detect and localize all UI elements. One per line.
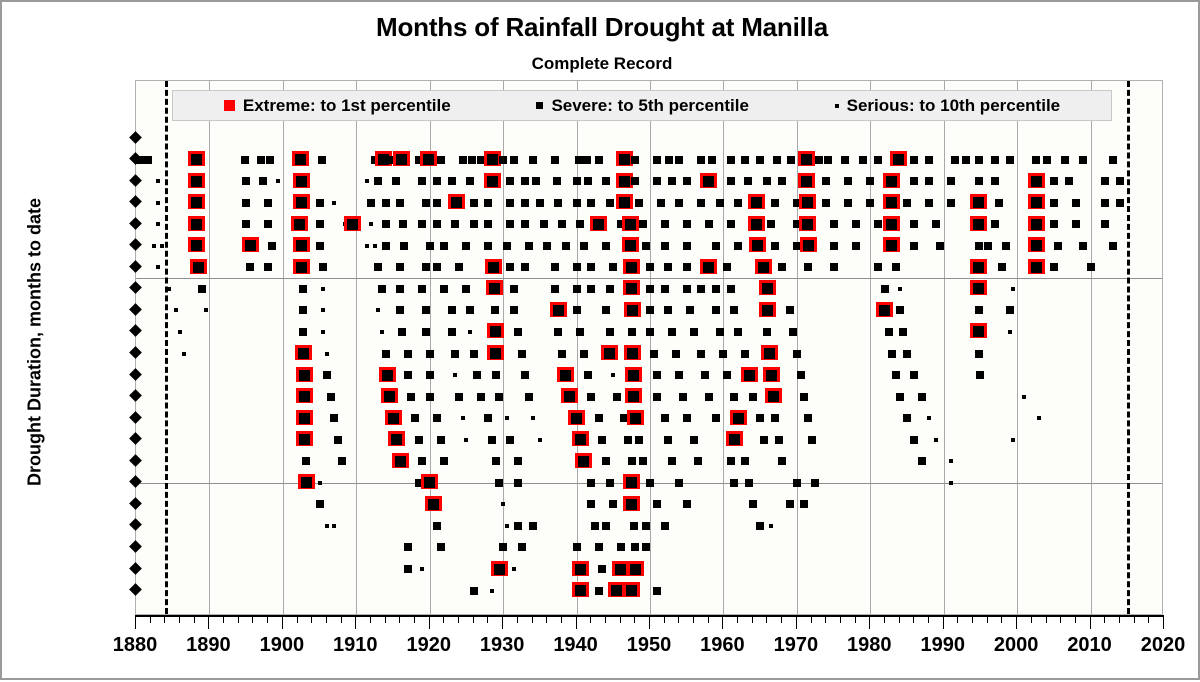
- drought-marker-extreme-core: [803, 240, 814, 251]
- drought-marker-severe: [778, 263, 786, 271]
- x-axis-tick-label: 1890: [186, 634, 231, 657]
- drought-marker-extreme-core: [191, 176, 202, 187]
- drought-marker-severe: [396, 263, 404, 271]
- drought-marker-severe: [554, 199, 562, 207]
- drought-marker-severe: [991, 177, 999, 185]
- drought-marker-severe: [418, 285, 426, 293]
- drought-marker-severe: [683, 242, 691, 250]
- x-axis-minor-tick: [561, 616, 562, 623]
- drought-marker-extreme-core: [490, 326, 501, 337]
- drought-marker-severe: [844, 177, 852, 185]
- drought-marker-severe: [299, 328, 307, 336]
- drought-marker-severe: [617, 543, 625, 551]
- drought-marker-serious: [365, 179, 369, 183]
- drought-marker-serious: [1011, 287, 1015, 291]
- drought-marker-severe: [1032, 156, 1040, 164]
- drought-marker-extreme-core: [424, 477, 435, 488]
- drought-marker-severe: [606, 479, 614, 487]
- drought-marker-severe: [451, 350, 459, 358]
- drought-marker-severe: [646, 285, 654, 293]
- drought-marker-severe: [771, 242, 779, 250]
- drought-marker-severe: [690, 436, 698, 444]
- drought-marker-extreme-core: [615, 564, 626, 575]
- drought-marker-extreme-core: [751, 219, 762, 230]
- drought-marker-severe: [602, 457, 610, 465]
- drought-marker-severe: [583, 156, 591, 164]
- drought-marker-severe: [1101, 177, 1109, 185]
- drought-marker-severe: [316, 242, 324, 250]
- y-axis-tick-marker: [128, 367, 142, 381]
- drought-marker-serious: [332, 524, 336, 528]
- drought-marker-extreme-core: [764, 348, 775, 359]
- drought-marker-extreme-core: [299, 391, 310, 402]
- drought-marker-severe: [874, 156, 882, 164]
- x-axis-minor-tick: [737, 616, 738, 623]
- drought-marker-severe: [661, 285, 669, 293]
- drought-marker-extreme-core: [296, 197, 307, 208]
- drought-marker-severe: [503, 242, 511, 250]
- drought-marker-severe: [514, 479, 522, 487]
- drought-marker-severe: [664, 306, 672, 314]
- drought-marker-extreme-core: [626, 499, 637, 510]
- drought-marker-extreme-core: [762, 283, 773, 294]
- drought-marker-severe: [727, 285, 735, 293]
- drought-marker-severe: [1072, 199, 1080, 207]
- drought-marker-extreme-core: [744, 370, 755, 381]
- drought-marker-severe: [580, 242, 588, 250]
- drought-marker-extreme-core: [575, 434, 586, 445]
- drought-marker-severe: [551, 263, 559, 271]
- drought-marker-severe: [506, 199, 514, 207]
- drought-marker-severe: [418, 457, 426, 465]
- drought-marker-serious: [156, 201, 160, 205]
- drought-marker-severe: [995, 199, 1003, 207]
- drought-marker-severe: [595, 543, 603, 551]
- x-axis-tick-label: 1930: [480, 634, 525, 657]
- drought-marker-severe: [866, 199, 874, 207]
- drought-marker-severe: [415, 436, 423, 444]
- drought-marker-severe: [1061, 156, 1069, 164]
- drought-marker-severe: [822, 177, 830, 185]
- drought-marker-serious: [178, 330, 182, 334]
- drought-marker-severe: [1050, 199, 1058, 207]
- drought-marker-severe: [841, 156, 849, 164]
- drought-marker-extreme-core: [626, 262, 637, 273]
- drought-marker-severe: [918, 457, 926, 465]
- x-axis-minor-tick: [517, 616, 518, 623]
- drought-marker-severe: [705, 393, 713, 401]
- y-axis-tick-marker: [128, 432, 142, 446]
- drought-marker-severe: [712, 306, 720, 314]
- drought-marker-severe: [631, 177, 639, 185]
- y-axis-tick-labels: 1234691218243yr4yr6yr8yr10yr15yr20yr30yr: [2, 2, 124, 682]
- drought-marker-severe: [514, 522, 522, 530]
- x-axis-minor-tick: [164, 616, 165, 623]
- drought-marker-severe: [793, 479, 801, 487]
- drought-marker-severe: [422, 199, 430, 207]
- drought-marker-severe: [433, 220, 441, 228]
- x-axis-minor-tick: [473, 616, 474, 623]
- x-axis-minor-tick: [1104, 616, 1105, 623]
- drought-marker-severe: [668, 177, 676, 185]
- drought-marker-severe: [466, 177, 474, 185]
- drought-marker-severe: [338, 457, 346, 465]
- drought-marker-severe: [712, 414, 720, 422]
- x-axis-minor-tick: [957, 616, 958, 623]
- drought-marker-severe: [448, 177, 456, 185]
- drought-marker-severe: [734, 199, 742, 207]
- legend-label-severe: Severe: to 5th percentile: [551, 96, 748, 116]
- drought-marker-severe: [602, 177, 610, 185]
- drought-marker-extreme-core: [388, 413, 399, 424]
- y-axis-tick-marker: [128, 561, 142, 575]
- drought-marker-severe: [466, 306, 474, 314]
- drought-marker-severe: [712, 242, 720, 250]
- drought-marker-extreme-core: [245, 240, 256, 251]
- drought-marker-extreme-core: [628, 370, 639, 381]
- drought-marker-severe: [628, 457, 636, 465]
- drought-marker-severe: [797, 371, 805, 379]
- drought-marker-severe: [675, 156, 683, 164]
- drought-marker-severe: [543, 242, 551, 250]
- drought-marker-severe: [433, 522, 441, 530]
- drought-marker-severe: [991, 156, 999, 164]
- drought-marker-severe: [741, 457, 749, 465]
- drought-marker-severe: [1087, 263, 1095, 271]
- drought-marker-severe: [468, 156, 476, 164]
- x-axis-minor-tick: [855, 616, 856, 623]
- drought-marker-severe: [804, 414, 812, 422]
- drought-marker-extreme-core: [619, 176, 630, 187]
- drought-marker-severe: [396, 285, 404, 293]
- drought-marker-severe: [925, 177, 933, 185]
- drought-marker-severe: [318, 156, 326, 164]
- drought-marker-serious: [318, 481, 322, 485]
- x-axis-major-tick: [722, 616, 723, 629]
- drought-marker-extreme-core: [630, 564, 641, 575]
- chart-frame: Months of Rainfall Drought at Manilla Co…: [0, 0, 1200, 680]
- drought-marker-severe: [521, 220, 529, 228]
- x-axis-tick-label: 2000: [994, 634, 1039, 657]
- drought-marker-extreme-core: [630, 413, 641, 424]
- drought-marker-extreme-core: [487, 154, 498, 165]
- drought-marker-extreme-core: [766, 370, 777, 381]
- drought-marker-severe: [404, 543, 412, 551]
- x-axis-major-tick: [1090, 616, 1091, 629]
- drought-marker-extreme-core: [801, 176, 812, 187]
- drought-marker-severe: [639, 457, 647, 465]
- drought-marker-severe: [462, 285, 470, 293]
- drought-marker-severe: [734, 242, 742, 250]
- drought-marker-extreme-core: [703, 176, 714, 187]
- drought-marker-extreme-core: [973, 197, 984, 208]
- drought-marker-severe: [330, 414, 338, 422]
- drought-marker-severe: [455, 263, 463, 271]
- drought-marker-severe: [484, 220, 492, 228]
- drought-marker-extreme-core: [751, 197, 762, 208]
- drought-marker-severe: [241, 156, 249, 164]
- drought-marker-extreme-core: [564, 391, 575, 402]
- drought-marker-severe: [506, 263, 514, 271]
- drought-marker-severe: [573, 306, 581, 314]
- drought-marker-severe: [374, 177, 382, 185]
- drought-marker-severe: [664, 263, 672, 271]
- drought-marker-severe: [844, 199, 852, 207]
- drought-marker-severe: [683, 414, 691, 422]
- drought-marker-severe: [378, 285, 386, 293]
- drought-marker-extreme-core: [575, 564, 586, 575]
- drought-marker-severe: [437, 436, 445, 444]
- drought-marker-serious: [325, 524, 329, 528]
- drought-marker-extreme-core: [627, 305, 638, 316]
- drought-marker-severe: [745, 479, 753, 487]
- drought-marker-severe: [1050, 220, 1058, 228]
- drought-marker-severe: [852, 242, 860, 250]
- drought-marker-serious: [365, 244, 369, 248]
- drought-marker-serious: [1037, 416, 1041, 420]
- drought-marker-extreme-core: [752, 240, 763, 251]
- drought-marker-serious: [325, 352, 329, 356]
- drought-marker-severe: [665, 156, 673, 164]
- drought-marker-severe: [609, 263, 617, 271]
- drought-marker-serious: [949, 459, 953, 463]
- x-axis-minor-tick: [1119, 616, 1120, 623]
- drought-marker-extreme-core: [628, 391, 639, 402]
- chart-title: Months of Rainfall Drought at Manilla: [2, 12, 1200, 43]
- drought-marker-severe: [778, 457, 786, 465]
- drought-marker-severe: [756, 522, 764, 530]
- drought-marker-severe: [646, 328, 654, 336]
- x-axis-minor-tick: [1031, 616, 1032, 623]
- drought-marker-severe: [975, 242, 983, 250]
- drought-marker-severe: [587, 500, 595, 508]
- drought-marker-severe: [683, 285, 691, 293]
- vertical-gridline: [356, 81, 357, 614]
- x-axis-tick-label: 1910: [333, 634, 378, 657]
- drought-marker-serious: [332, 201, 336, 205]
- drought-marker-severe: [470, 220, 478, 228]
- drought-marker-severe: [1072, 220, 1080, 228]
- drought-marker-severe: [426, 393, 434, 401]
- drought-marker-severe: [925, 199, 933, 207]
- drought-marker-severe: [697, 285, 705, 293]
- drought-marker-extreme-core: [626, 585, 637, 596]
- drought-marker-severe: [661, 522, 669, 530]
- drought-marker-severe: [584, 177, 592, 185]
- x-axis-minor-tick: [370, 616, 371, 623]
- x-axis-minor-tick: [664, 616, 665, 623]
- drought-marker-severe: [775, 436, 783, 444]
- drought-marker-extreme-core: [451, 197, 462, 208]
- drought-marker-severe: [727, 457, 735, 465]
- drought-marker-severe: [892, 263, 900, 271]
- drought-marker-severe: [595, 414, 603, 422]
- drought-marker-severe: [910, 436, 918, 444]
- drought-marker-severe: [613, 393, 621, 401]
- drought-marker-severe: [730, 306, 738, 314]
- drought-marker-severe: [506, 220, 514, 228]
- drought-marker-severe: [903, 414, 911, 422]
- drought-marker-severe: [962, 156, 970, 164]
- drought-marker-serious: [468, 330, 472, 334]
- drought-marker-severe: [521, 177, 529, 185]
- drought-marker-severe: [587, 393, 595, 401]
- drought-marker-severe: [316, 220, 324, 228]
- drought-marker-severe: [302, 457, 310, 465]
- vertical-gridline: [870, 81, 871, 614]
- drought-marker-severe: [773, 156, 781, 164]
- x-axis-minor-tick: [1134, 616, 1135, 623]
- drought-marker-severe: [499, 156, 507, 164]
- drought-marker-extreme-core: [619, 197, 630, 208]
- drought-marker-severe: [793, 350, 801, 358]
- drought-marker-severe: [259, 177, 267, 185]
- drought-marker-severe: [488, 436, 496, 444]
- drought-marker-severe: [1043, 156, 1051, 164]
- legend-label-serious: Serious: to 10th percentile: [847, 96, 1061, 116]
- drought-marker-severe: [392, 177, 400, 185]
- drought-marker-severe: [664, 436, 672, 444]
- drought-marker-severe: [727, 177, 735, 185]
- drought-marker-severe: [433, 177, 441, 185]
- drought-marker-extreme-core: [802, 219, 813, 230]
- drought-marker-serious: [321, 330, 325, 334]
- drought-marker-severe: [925, 156, 933, 164]
- drought-marker-severe: [744, 177, 752, 185]
- drought-marker-serious: [373, 244, 377, 248]
- drought-marker-severe: [396, 199, 404, 207]
- drought-marker-serious: [156, 179, 160, 183]
- drought-marker-severe: [1002, 242, 1010, 250]
- drought-marker-serious: [464, 438, 468, 442]
- drought-marker-severe: [558, 220, 566, 228]
- drought-marker-severe: [918, 393, 926, 401]
- drought-marker-serious: [376, 308, 380, 312]
- x-axis-major-tick: [869, 616, 870, 629]
- drought-marker-severe: [448, 306, 456, 314]
- drought-marker-severe: [521, 199, 529, 207]
- vertical-gridline: [723, 81, 724, 614]
- drought-marker-severe: [727, 156, 735, 164]
- drought-marker-severe: [367, 199, 375, 207]
- drought-marker-severe: [719, 350, 727, 358]
- drought-marker-severe: [903, 199, 911, 207]
- x-axis-minor-tick: [267, 616, 268, 623]
- drought-marker-severe: [411, 414, 419, 422]
- drought-marker-severe: [975, 177, 983, 185]
- drought-marker-severe: [653, 587, 661, 595]
- drought-marker-severe: [903, 350, 911, 358]
- drought-marker-extreme-core: [604, 348, 615, 359]
- y-axis-tick-marker: [128, 346, 142, 360]
- drought-marker-severe: [815, 156, 823, 164]
- drought-marker-serious: [1008, 330, 1012, 334]
- x-axis-minor-tick: [223, 616, 224, 623]
- drought-marker-severe: [495, 479, 503, 487]
- drought-marker-severe: [422, 328, 430, 336]
- x-axis-major-tick: [1016, 616, 1017, 629]
- x-axis-minor-tick: [634, 616, 635, 623]
- drought-marker-severe: [382, 350, 390, 358]
- x-axis-minor-tick: [1001, 616, 1002, 623]
- drought-marker-extreme-core: [487, 176, 498, 187]
- x-axis-major-tick: [208, 616, 209, 629]
- drought-marker-severe: [646, 306, 654, 314]
- drought-marker-severe: [506, 436, 514, 444]
- x-axis-minor-tick: [252, 616, 253, 623]
- drought-marker-severe: [316, 199, 324, 207]
- drought-marker-severe: [576, 328, 584, 336]
- drought-marker-severe: [749, 393, 757, 401]
- drought-marker-severe: [492, 457, 500, 465]
- drought-marker-serious: [505, 524, 509, 528]
- drought-marker-severe: [477, 393, 485, 401]
- drought-marker-severe: [642, 242, 650, 250]
- drought-marker-extreme-core: [802, 197, 813, 208]
- drought-marker-extreme-core: [625, 219, 636, 230]
- drought-marker-severe: [804, 263, 812, 271]
- drought-marker-severe: [947, 199, 955, 207]
- x-axis-minor-tick: [297, 616, 298, 623]
- drought-marker-extreme-core: [428, 499, 439, 510]
- drought-marker-severe: [1079, 242, 1087, 250]
- drought-marker-extreme-core: [299, 434, 310, 445]
- drought-marker-severe: [1079, 156, 1087, 164]
- drought-marker-severe: [264, 220, 272, 228]
- drought-marker-extreme-core: [1031, 219, 1042, 230]
- x-axis-minor-tick: [972, 616, 973, 623]
- drought-marker-severe: [686, 306, 694, 314]
- drought-marker-severe: [499, 543, 507, 551]
- drought-marker-severe: [787, 156, 795, 164]
- serious-swatch-icon: [835, 104, 839, 108]
- drought-marker-severe: [712, 285, 720, 293]
- x-axis-minor-tick: [884, 616, 885, 623]
- drought-marker-severe: [437, 543, 445, 551]
- drought-marker-severe: [327, 393, 335, 401]
- x-axis-minor-tick: [1060, 616, 1061, 623]
- drought-marker-severe: [998, 263, 1006, 271]
- y-axis-tick-marker: [128, 496, 142, 510]
- drought-marker-serious: [769, 524, 773, 528]
- drought-marker-severe: [657, 199, 665, 207]
- drought-marker-severe: [266, 156, 274, 164]
- drought-marker-serious: [152, 244, 156, 248]
- x-axis-major-tick: [943, 616, 944, 629]
- x-axis-minor-tick: [238, 616, 239, 623]
- drought-marker-severe: [642, 522, 650, 530]
- x-axis-minor-tick: [179, 616, 180, 623]
- drought-marker-extreme-core: [625, 240, 636, 251]
- x-axis-major-tick: [355, 616, 356, 629]
- drought-marker-extreme-core: [384, 391, 395, 402]
- drought-marker-severe: [896, 306, 904, 314]
- drought-marker-severe: [382, 220, 390, 228]
- drought-marker-severe: [198, 285, 206, 293]
- drought-marker-severe: [1054, 242, 1062, 250]
- drought-marker-severe: [399, 220, 407, 228]
- x-axis-minor-tick: [385, 616, 386, 623]
- drought-marker-extreme-core: [193, 262, 204, 273]
- drought-marker-severe: [630, 522, 638, 530]
- drought-marker-severe: [646, 263, 654, 271]
- drought-marker-serious: [182, 352, 186, 356]
- drought-marker-serious: [160, 244, 164, 248]
- drought-marker-severe: [653, 177, 661, 185]
- drought-marker-severe: [697, 350, 705, 358]
- drought-marker-severe: [242, 220, 250, 228]
- drought-marker-serious: [420, 567, 424, 571]
